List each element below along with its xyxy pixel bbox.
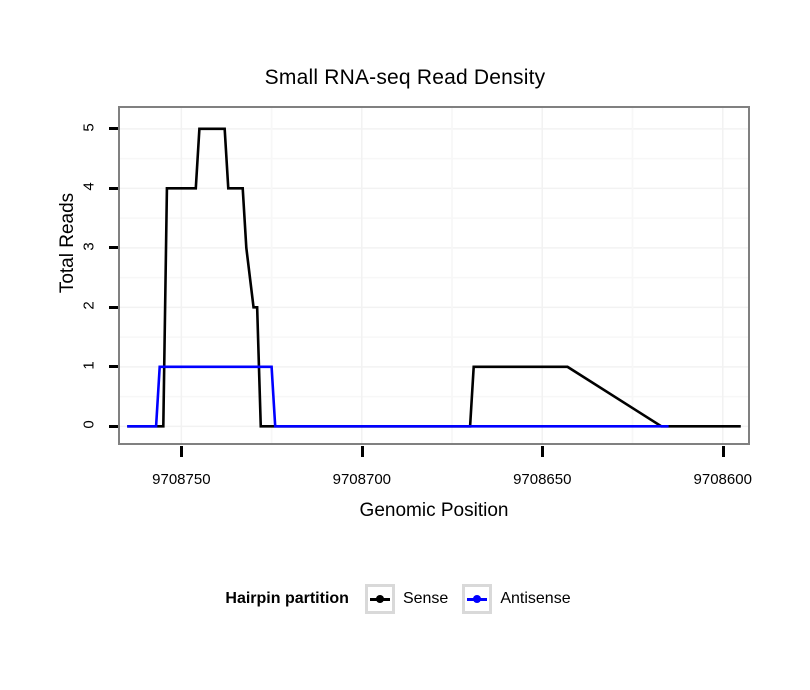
y-tick-mark (109, 365, 118, 368)
y-tick-mark (109, 187, 118, 190)
y-axis-title: Total Reads (57, 163, 79, 323)
y-tick-label: 4 (81, 174, 98, 200)
legend-item-antisense[interactable]: Antisense (462, 584, 570, 614)
y-tick-mark (109, 127, 118, 130)
legend-key-dot (473, 595, 481, 603)
x-tick-label: 9708700 (307, 471, 417, 488)
x-tick-mark (541, 446, 544, 457)
y-tick-mark (109, 425, 118, 428)
series-line-antisense (127, 367, 668, 427)
chart-title: Small RNA-seq Read Density (0, 66, 810, 90)
x-tick-label: 9708650 (487, 471, 597, 488)
legend-title: Hairpin partition (225, 590, 349, 608)
y-tick-label: 5 (81, 114, 98, 140)
legend-key-icon (365, 584, 395, 614)
y-tick-mark (109, 306, 118, 309)
chart-legend: Hairpin partition SenseAntisense (0, 584, 810, 614)
x-axis-title: Genomic Position (118, 500, 750, 522)
y-tick-label: 0 (81, 412, 98, 438)
series-canvas (120, 108, 748, 443)
x-tick-mark (180, 446, 183, 457)
x-tick-label: 9708600 (668, 471, 778, 488)
plot-area (120, 108, 748, 443)
legend-label: Antisense (500, 590, 570, 608)
chart-root: Small RNA-seq Read Density Total Reads 0… (0, 0, 810, 690)
x-tick-mark (361, 446, 364, 457)
legend-item-sense[interactable]: Sense (365, 584, 448, 614)
y-tick-label: 1 (81, 352, 98, 378)
legend-items: SenseAntisense (365, 584, 585, 614)
legend-label: Sense (403, 590, 448, 608)
y-tick-mark (109, 246, 118, 249)
legend-key-dot (376, 595, 384, 603)
y-tick-label: 2 (81, 293, 98, 319)
legend-key-icon (462, 584, 492, 614)
series-line-sense (127, 129, 741, 427)
x-tick-label: 9708750 (126, 471, 236, 488)
y-tick-label: 3 (81, 233, 98, 259)
x-tick-mark (722, 446, 725, 457)
